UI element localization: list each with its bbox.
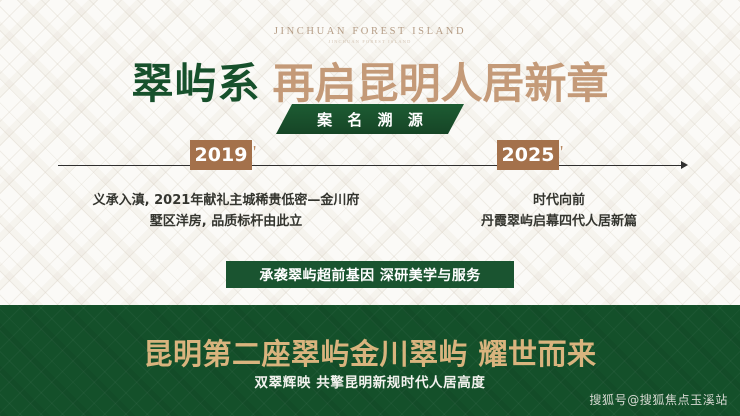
watermark-label: 搜狐号@搜狐焦点玉溪站 <box>589 391 728 408</box>
section-badge: 案 名 溯 源 <box>276 104 464 134</box>
timeline-year-label: 2019 <box>195 144 248 166</box>
section-badge-label: 案 名 溯 源 <box>312 109 428 130</box>
brand-subline: JINCHUAN FOREST ISLAND <box>0 39 740 44</box>
description-line: 时代向前 <box>414 190 704 211</box>
timeline-tick-icon-right: ' <box>560 146 568 158</box>
brand-mark: JINCHUAN FOREST ISLAND JINCHUAN FOREST I… <box>0 26 740 44</box>
headline-gold-part: 再启昆明人居新章 <box>273 59 609 108</box>
timeline-year-label: 2025 <box>502 144 555 166</box>
timeline-tick-icon-left: ' <box>253 146 261 158</box>
description-line: 义承入滇, 2021年献礼主城稀贵低密—金川府 <box>38 190 414 211</box>
brand-name: JINCHUAN FOREST ISLAND <box>0 26 740 37</box>
timeline-year-2025: 2025 <box>497 140 559 170</box>
page-title: 翠屿系再启昆明人居新章 <box>0 50 740 111</box>
poster-canvas: JINCHUAN FOREST ISLAND JINCHUAN FOREST I… <box>0 0 740 416</box>
timeline-year-2019: 2019 <box>190 140 252 170</box>
description-line: 墅区洋房, 品质标杆由此立 <box>38 211 414 232</box>
timeline-description-2019: 义承入滇, 2021年献礼主城稀贵低密—金川府 墅区洋房, 品质标杆由此立 <box>38 190 414 232</box>
banner-headline: 昆明第二座翠屿金川翠屿 耀世而来 <box>0 331 740 373</box>
highlight-strip: 承袭翠屿超前基因 深研美学与服务 <box>226 261 514 288</box>
bottom-banner: 昆明第二座翠屿金川翠屿 耀世而来 双翠辉映 共擎昆明新规时代人居高度 搜狐号@搜… <box>0 305 740 416</box>
timeline-description-2025: 时代向前 丹霞翠屿启幕四代人居新篇 <box>414 190 704 232</box>
headline-green-part: 翠屿系 <box>131 59 260 108</box>
highlight-strip-label: 承袭翠屿超前基因 深研美学与服务 <box>259 265 480 285</box>
description-line: 丹霞翠屿启幕四代人居新篇 <box>414 211 704 232</box>
timeline-axis <box>58 165 682 166</box>
banner-subheadline: 双翠辉映 共擎昆明新规时代人居高度 <box>0 371 740 391</box>
timeline-arrow-icon <box>681 161 688 169</box>
